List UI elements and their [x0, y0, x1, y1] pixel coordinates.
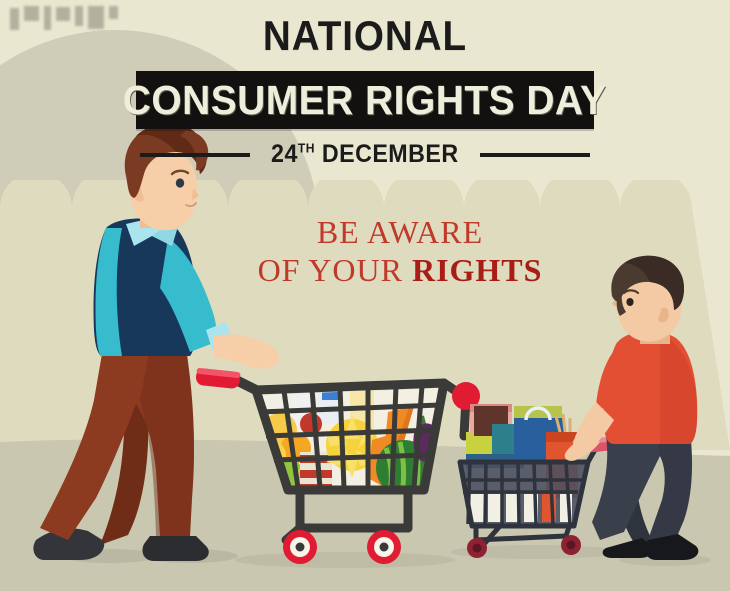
dateline-rule-right: [480, 153, 590, 157]
cart-wheel-right-front: [467, 538, 487, 558]
headline-block: NATIONAL: [0, 0, 730, 60]
slogan-line-2: OF YOUR RIGHTS: [220, 252, 580, 290]
dateline-month: DECEMBER: [322, 140, 459, 168]
figure-shopper-left: [33, 123, 278, 563]
cart-groceries: [195, 368, 480, 568]
dateline-day: 24: [271, 140, 298, 168]
slogan-line-2-emphasis: RIGHTS: [412, 252, 542, 288]
figure-shopper-right: [565, 256, 711, 566]
cart-wheel-rear: [367, 530, 401, 564]
cart-wheel-right-rear: [561, 535, 581, 555]
cart-wheel-front: [283, 530, 317, 564]
headline-national: NATIONAL: [29, 12, 701, 60]
poster-canvas: NATIONAL CONSUMER RIGHTS DAY 24TH DECEMB…: [0, 0, 730, 591]
dateline-ordinal: TH: [298, 141, 315, 156]
headline-banner: CONSUMER RIGHTS DAY: [136, 71, 594, 129]
cart-handle-grip: [195, 368, 241, 390]
slogan-line-2-prefix: OF YOUR: [258, 252, 412, 288]
slogan-block: BE AWARE OF YOUR RIGHTS: [220, 214, 580, 290]
headline-banner-text: CONSUMER RIGHTS DAY: [123, 77, 607, 124]
slogan-line-1: BE AWARE: [220, 214, 580, 252]
dateline-rule-left: [140, 153, 250, 157]
dateline: 24TH DECEMBER: [0, 140, 730, 169]
dateline-text: 24TH DECEMBER: [271, 140, 459, 169]
